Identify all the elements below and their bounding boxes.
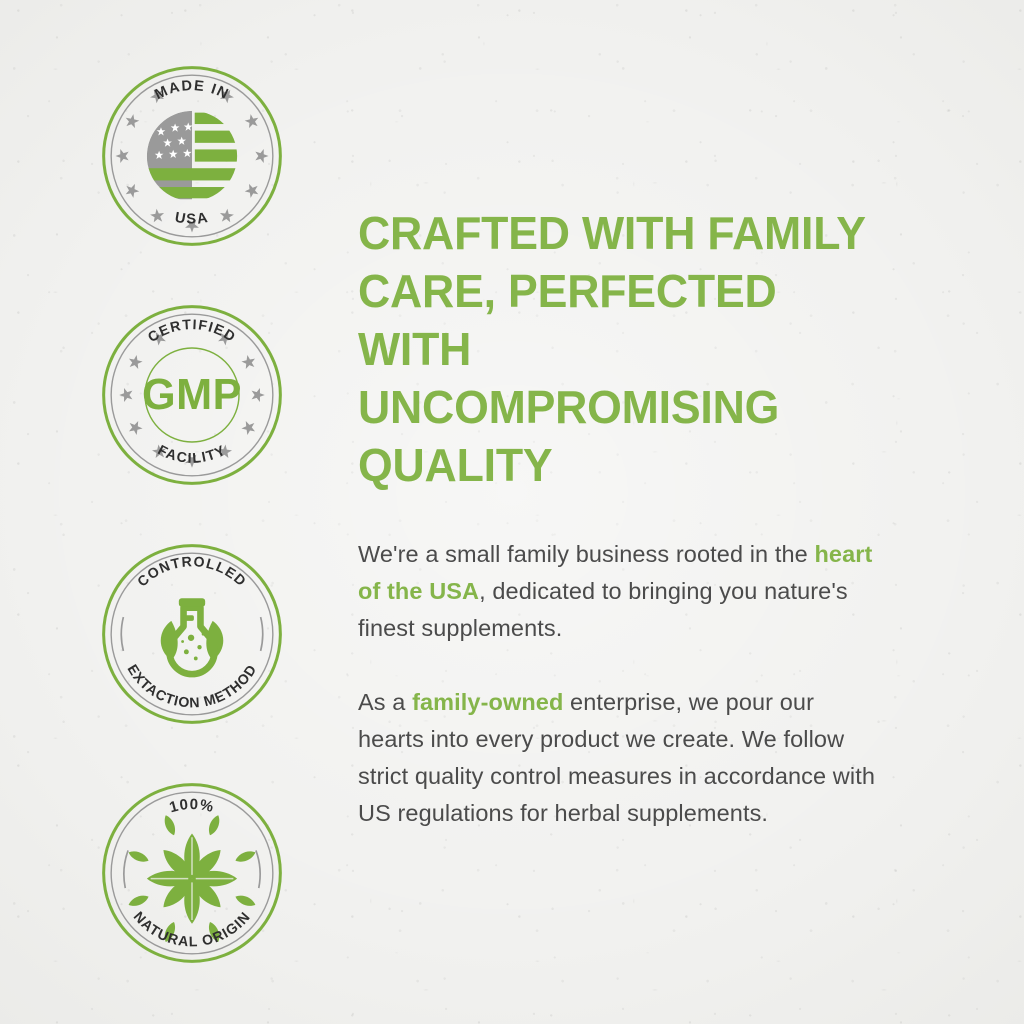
paragraph2-highlight: family-owned (412, 689, 563, 715)
decorative-arc-left (124, 850, 128, 888)
badge-made-in-usa: MADE IN USA (98, 62, 286, 250)
content-column: CRAFTED WITH FAMILY CARE, PERFECTED WITH… (358, 204, 914, 832)
badge-top-label: CONTROLLED (134, 553, 250, 590)
paragraph2-before: As a (358, 689, 412, 715)
trust-badge-column: MADE IN USA (98, 62, 290, 967)
badge-top-label: MADE IN (152, 78, 231, 103)
usa-flag-roundel-icon (143, 111, 248, 199)
infographic-page: MADE IN USA (0, 0, 1024, 1024)
badge-controlled-extraction-method: CONTROLLED EXTACTION METHOD (98, 540, 286, 728)
flask-with-leaves-icon (161, 598, 224, 674)
intro-paragraph: We're a small family business rooted in … (358, 536, 878, 647)
badge-natural-origin: 100% NATURAL ORIGIN (98, 779, 286, 967)
badge-top-label: 100% (168, 796, 216, 816)
page-headline: CRAFTED WITH FAMILY CARE, PERFECTED WITH… (358, 204, 897, 494)
gmp-text-icon: GMP (142, 371, 242, 419)
decorative-arc-left (121, 617, 123, 651)
badge-bottom-label: EXTACTION METHOD (124, 661, 259, 710)
badge-gmp-certified-facility: GMP CERTIFIED FACILITY (98, 301, 286, 489)
badge-top-label: CERTIFIED (145, 316, 240, 345)
decorative-arc-right (256, 850, 260, 888)
paragraph1-before: We're a small family business rooted in … (358, 541, 814, 567)
decorative-arc-right (261, 617, 263, 651)
badge-bottom-label: FACILITY (155, 441, 228, 465)
badge-bottom-label: USA (174, 210, 211, 228)
quality-paragraph: As a family-owned enterprise, we pour ou… (358, 684, 878, 832)
